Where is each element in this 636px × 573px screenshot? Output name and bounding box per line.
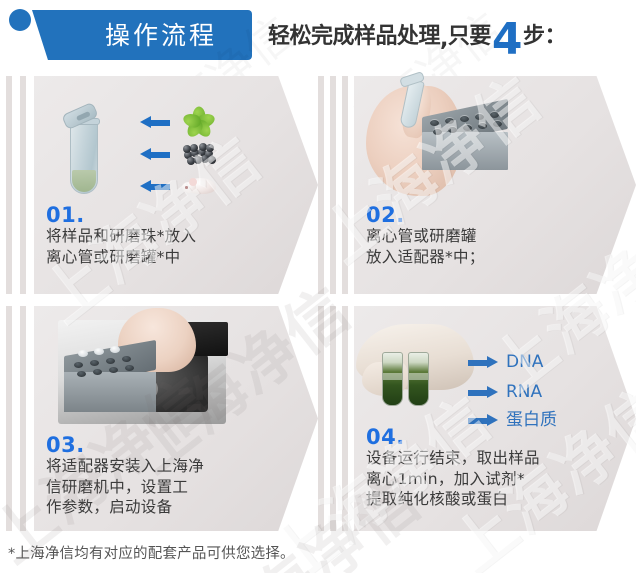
step-number: 01. (46, 204, 196, 226)
mouse-sample-icon (182, 174, 218, 196)
step-card-04[interactable]: DNA RNA 蛋白质 04. 设备运行结束，取出样品 离心1min，加入试剂*… (318, 306, 636, 531)
arrow-left-icon (140, 116, 170, 129)
tagline-prefix: 轻松完成样品处理 (268, 26, 440, 48)
arrow-right-icon (468, 414, 498, 427)
output-label: DNA (506, 354, 543, 371)
step-description: 将样品和研磨珠*放入 离心管或研磨罐*中 (46, 226, 196, 267)
arrow-right-icon (468, 386, 498, 399)
tagline-suffix: 步： (523, 26, 566, 48)
tagline-step-count: 4 (492, 22, 522, 57)
step-number: 03. (46, 434, 204, 456)
page-title: 操作流程 (105, 23, 217, 48)
leaf-sample-icon (184, 108, 214, 136)
arrow-right-icon (468, 356, 498, 369)
step-card-01[interactable]: 01. 将样品和研磨珠*放入 离心管或研磨罐*中 (0, 76, 318, 294)
accent-bar (330, 306, 336, 531)
step-text-02: 02. 离心管或研磨罐 放入适配器*中； (366, 204, 485, 267)
step-card-02[interactable]: 02. 离心管或研磨罐 放入适配器*中； (318, 76, 636, 294)
steps-grid: 01. 将样品和研磨珠*放入 离心管或研磨罐*中 (0, 76, 636, 531)
output-row-protein: 蛋白质 (468, 412, 557, 429)
output-label: 蛋白质 (506, 412, 557, 429)
tagline: 轻松完成样品处理 , 只要 4 步： (268, 14, 566, 60)
sample-tube-icon (408, 352, 429, 406)
accent-bar (6, 306, 12, 531)
step-text-03: 03. 将适配器安装入上海净 信研磨机中，设置工 作参数，启动设备 (46, 434, 204, 518)
centrifuge-tube-icon (62, 104, 106, 194)
page-header: 操作流程 轻松完成样品处理 , 只要 4 步： 上海净信 上海净信 (0, 0, 636, 72)
footer-note: *上海净信均有对应的配套产品可供您选择。 (8, 538, 628, 566)
tagline-comma: , (440, 27, 448, 52)
arrow-left-icon (140, 180, 170, 193)
accent-bar (342, 306, 348, 531)
accent-bar (6, 76, 12, 294)
infographic-page: 操作流程 轻松完成样品处理 , 只要 4 步： 上海净信 上海净信 (0, 0, 636, 573)
accent-bar (330, 76, 336, 294)
banner-body: 操作流程 (70, 10, 252, 60)
step-description: 离心管或研磨罐 放入适配器*中； (366, 226, 485, 267)
step-description: 将适配器安装入上海净 信研磨机中，设置工 作参数，启动设备 (46, 456, 204, 518)
tagline-middle: 只要 (448, 26, 491, 48)
accent-bar (20, 306, 26, 531)
step-text-01: 01. 将样品和研磨珠*放入 离心管或研磨罐*中 (46, 204, 196, 267)
output-row-dna: DNA (468, 354, 543, 371)
sample-tube-icon (382, 352, 403, 406)
grinding-beads-icon (182, 142, 218, 166)
adapter-block-icon (64, 348, 156, 414)
step-card-03[interactable]: 03. 将适配器安装入上海净 信研磨机中，设置工 作参数，启动设备 (0, 306, 318, 531)
adapter-block-icon (422, 108, 508, 174)
accent-bar (318, 306, 324, 531)
accent-bar (342, 76, 348, 294)
dot-icon (9, 9, 31, 31)
banner-tail-shape (32, 10, 74, 60)
accent-bar (20, 76, 26, 294)
step-description: 设备运行结束，取出样品 离心1min，加入试剂* 提取纯化核酸或蛋白 (366, 448, 540, 510)
arrow-left-icon (140, 148, 170, 161)
output-row-rna: RNA (468, 384, 542, 401)
output-label: RNA (506, 384, 542, 401)
step-text-04: 04. 设备运行结束，取出样品 离心1min，加入试剂* 提取纯化核酸或蛋白 (366, 426, 540, 510)
step-number: 02. (366, 204, 485, 226)
section-banner: 操作流程 (32, 10, 252, 60)
accent-bar (318, 76, 324, 294)
footer-note-text: *上海净信均有对应的配套产品可供您选择。 (8, 542, 295, 563)
